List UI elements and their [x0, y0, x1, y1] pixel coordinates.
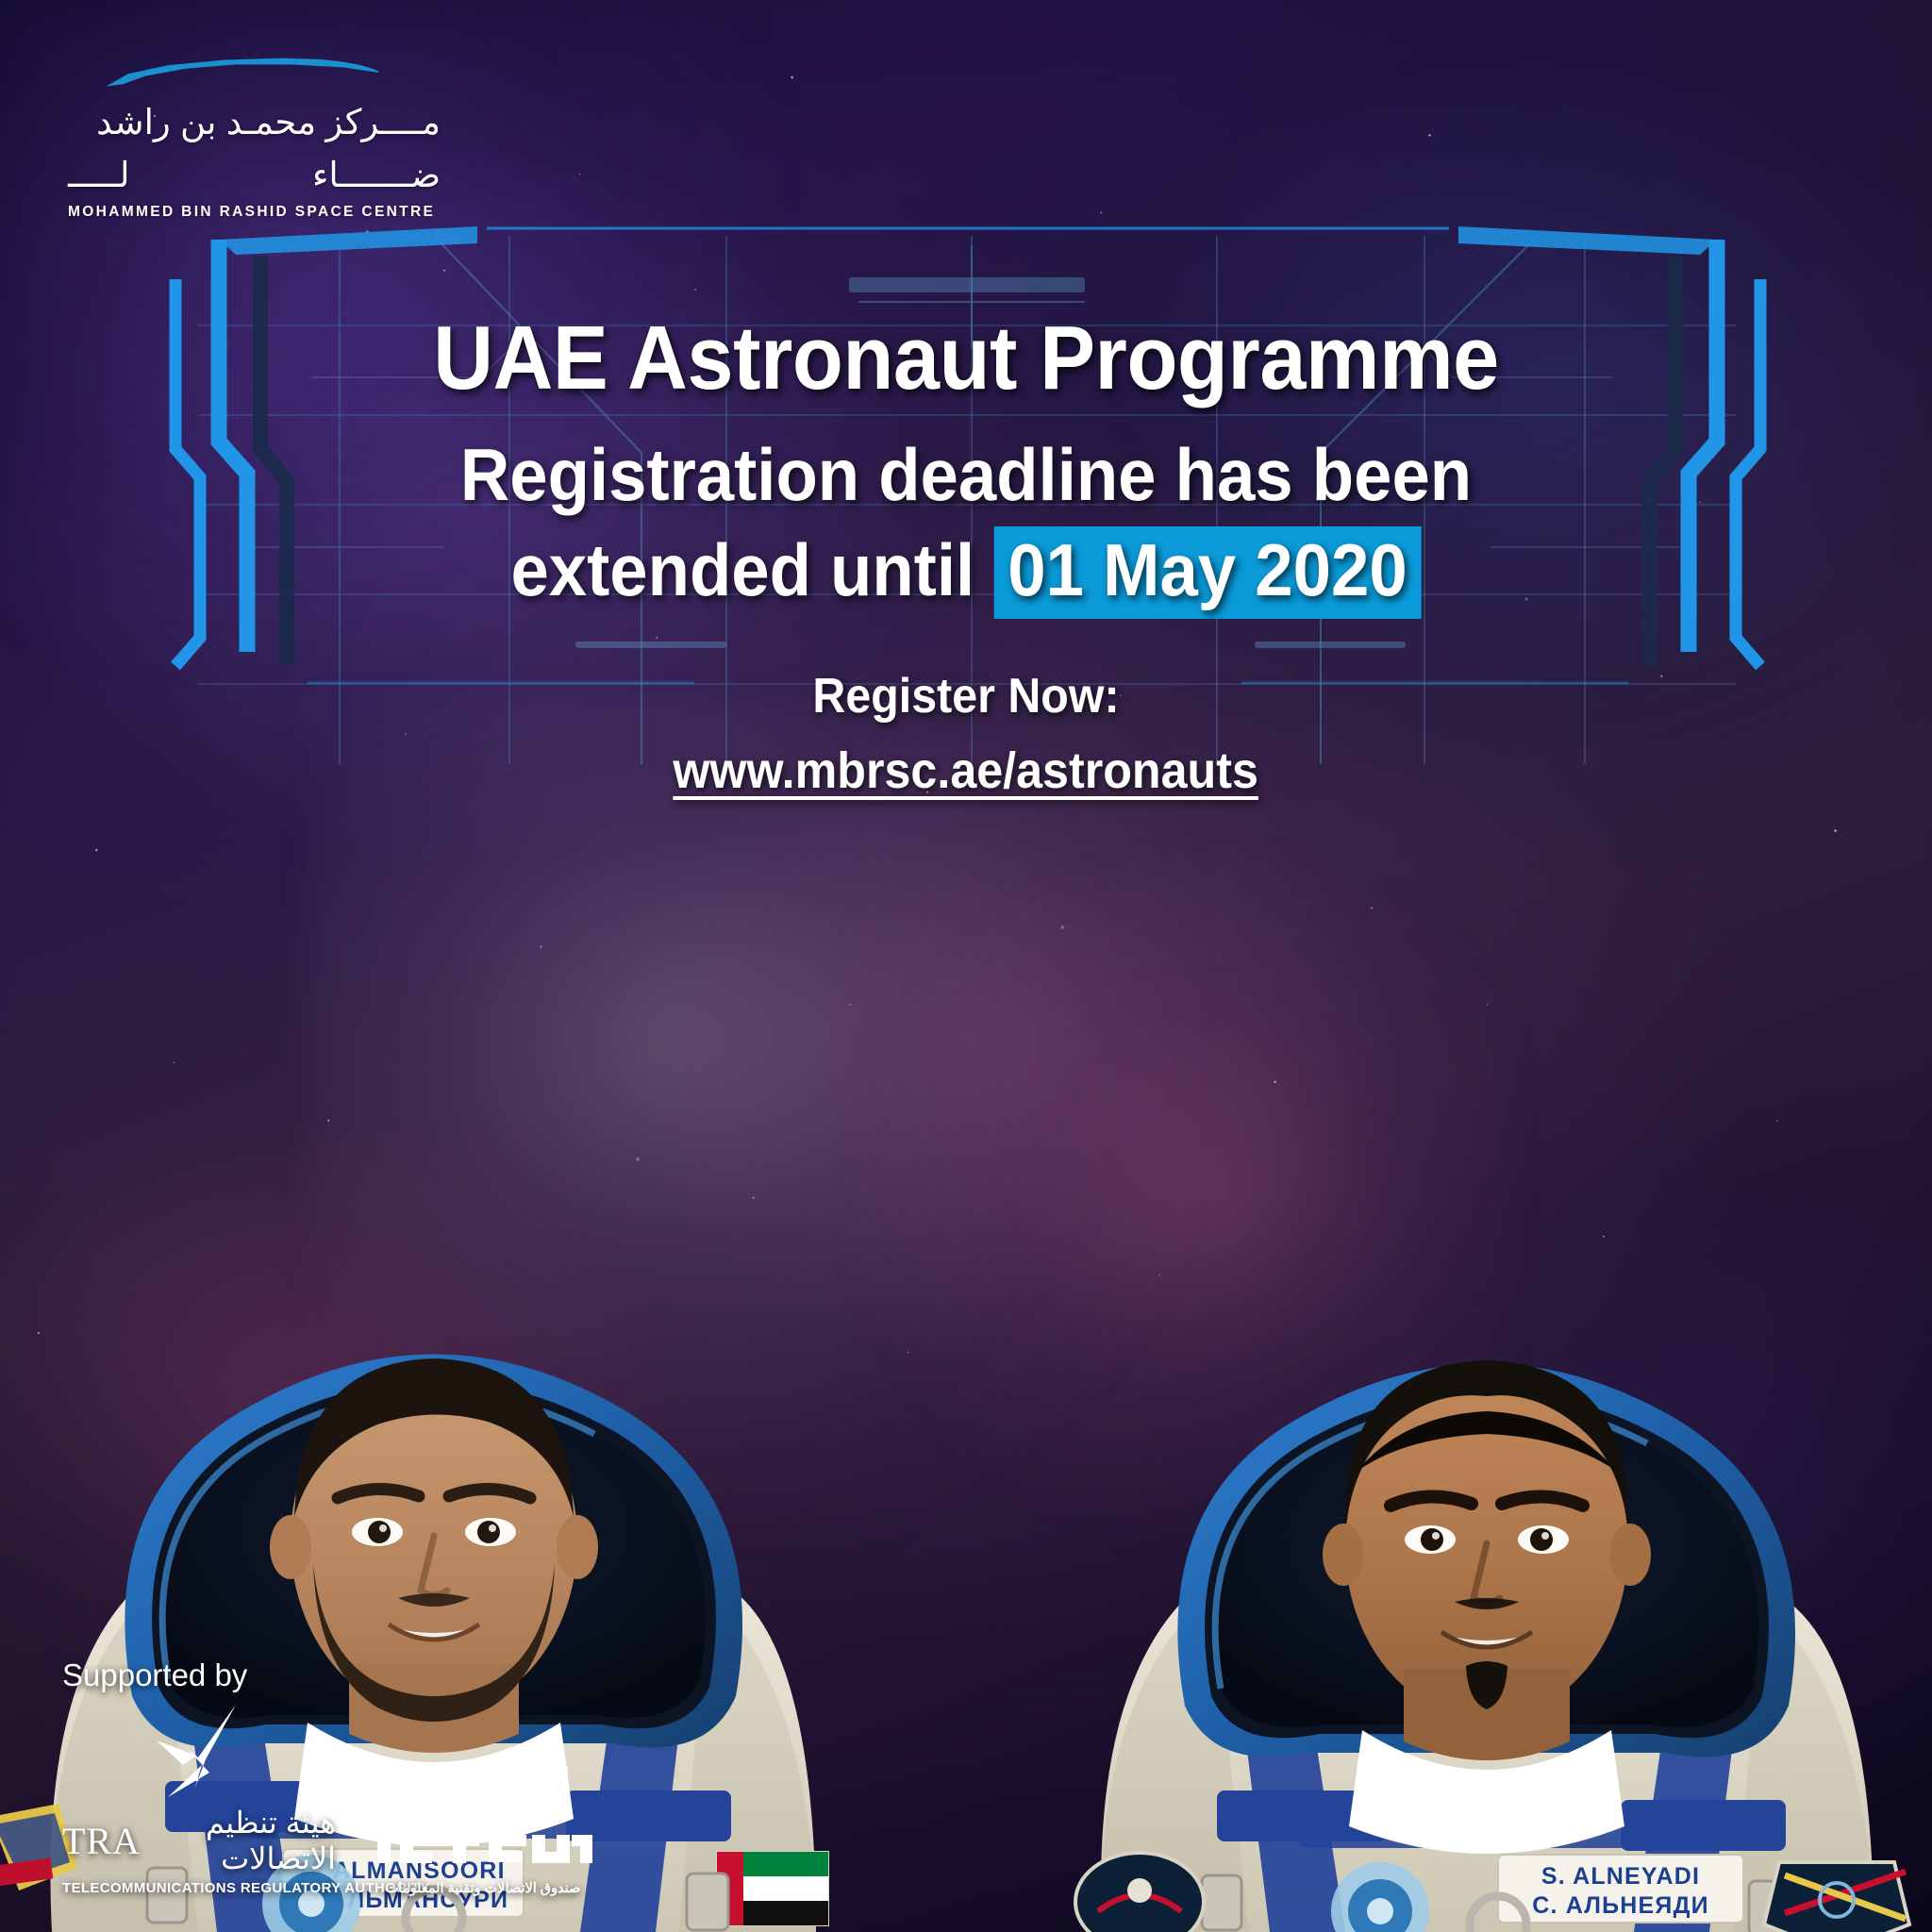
mission-patch-right — [1764, 1862, 1909, 1932]
page-title: UAE Astronaut Programme — [77, 311, 1855, 407]
svg-text:С. АЛЬНЕЯДИ: С. АЛЬНЕЯДИ — [1532, 1892, 1709, 1919]
subheadline: Registration deadline has been extended … — [68, 427, 1865, 619]
tra-arabic-name: هيئة تنظيم الاتصالات — [150, 1805, 336, 1876]
astronaut-alneyadi: S. ALNEYADI С. АЛЬНЕЯДИ — [1008, 706, 1932, 1932]
subheadline-line-2: extended until 01 May 2020 — [68, 523, 1865, 618]
sponsor-tra[interactable]: TRA هيئة تنظيم الاتصالات TELECOMMUNICATI… — [62, 1699, 336, 1896]
sponsor-logos-row: TRA هيئة تنظيم الاتصالات TELECOMMUNICATI… — [62, 1699, 666, 1896]
mbrsc-logo: مــــركز محمـد بن راشد ضـــــــاء لـــــ… — [68, 58, 464, 221]
svg-text:S. ALNEYADI: S. ALNEYADI — [1541, 1863, 1700, 1890]
mbrsc-swoosh-icon — [106, 56, 390, 93]
ict-fund-logo-icon — [370, 1759, 596, 1875]
tra-english-name: TELECOMMUNICATIONS REGULATORY AUTHORITY — [62, 1880, 336, 1896]
poster-canvas: مــــركز محمـد بن راشد ضـــــــاء لـــــ… — [0, 0, 1932, 1932]
mbrsc-logo-english: MOHAMMED BIN RASHID SPACE CENTRE — [68, 204, 464, 221]
deadline-date-badge: 01 May 2020 — [993, 526, 1421, 619]
supported-by-label: Supported by — [62, 1657, 666, 1693]
tra-star-icon — [62, 1699, 336, 1803]
tra-abbreviation: TRA — [62, 1819, 141, 1863]
sponsors-block: Supported by TRA هيئة تنظيم الاتصالات TE… — [62, 1657, 666, 1896]
uae-flag-patch — [717, 1852, 828, 1925]
ict-fund-arabic-name: صندوق الاتصالات وتقنية المعلومات — [370, 1881, 596, 1896]
mbrsc-logo-arabic-line2-left: لـــــ — [68, 155, 129, 196]
subheadline-line-1: Registration deadline has been — [68, 427, 1865, 523]
mbrsc-logo-arabic-line2: ضـــــــاء لـــــ — [68, 155, 441, 196]
astronaut-name-tag: S. ALNEYADI С. АЛЬНЕЯДИ — [1498, 1855, 1743, 1923]
mbrsc-logo-arabic-line2-right: ضـــــــاء — [312, 155, 441, 196]
sponsor-ict-fund[interactable]: صندوق الاتصالات وتقنية المعلومات — [370, 1759, 596, 1896]
subheadline-line-2-prefix: extended until — [510, 528, 993, 611]
tra-wordmark: TRA هيئة تنظيم الاتصالات — [62, 1805, 336, 1876]
mbrsc-logo-arabic-line1: مــــركز محمـد بن راشد — [68, 102, 441, 143]
mission-patch-left — [1075, 1853, 1204, 1932]
